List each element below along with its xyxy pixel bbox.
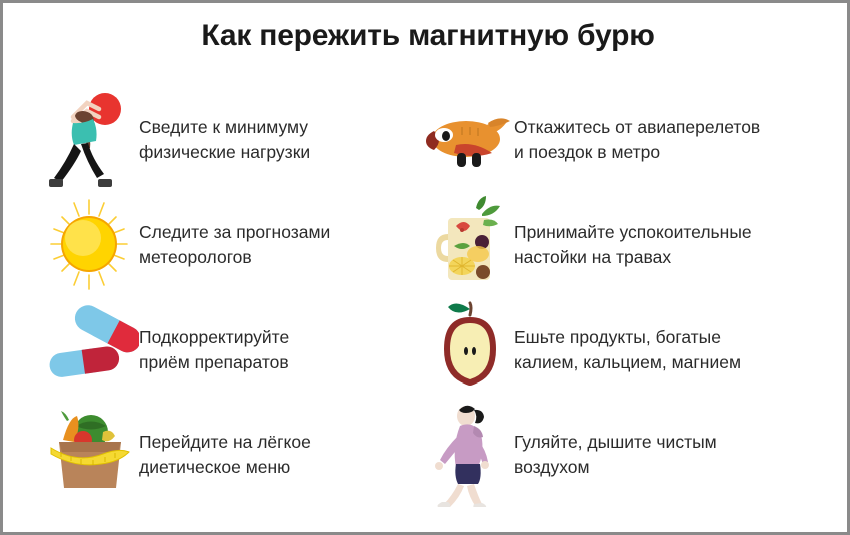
tip-line-1: Перейдите на лёгкое [139,432,311,452]
tip-line-1: Откажитесь от авиаперелетов [514,117,760,137]
tip-item: Откажитесь от авиаперелетов и поездок в … [426,87,816,192]
tip-line-2: и поездок в метро [514,140,760,165]
sun-icon [43,192,139,297]
tip-text: Перейдите на лёгкое диетическое меню [139,430,311,480]
walking-woman-icon [426,402,514,507]
tip-line-1: Следите за прогнозами [139,222,330,242]
herbal-tea-mug-icon [426,192,514,297]
tip-line-1: Гуляйте, дышите чистым [514,432,717,452]
tip-item: Следите за прогнозами метеорологов [43,192,433,297]
tip-line-2: диетическое меню [139,455,311,480]
tip-item: Ешьте продукты, богатые калием, кальцием… [426,297,816,402]
tip-line-1: Ешьте продукты, богатые [514,327,721,347]
tip-text: Сведите к минимуму физические нагрузки [139,115,310,165]
tip-text: Принимайте успокоительные настойки на тр… [514,220,752,270]
tip-item: Гуляйте, дышите чистым воздухом [426,402,816,507]
tip-item: Сведите к минимуму физические нагрузки [43,87,433,192]
left-column: Сведите к минимуму физические нагрузки [43,87,433,507]
tip-item: Подкорректируйте приём препаратов [43,297,433,402]
tip-line-2: калием, кальцием, магнием [514,350,741,375]
airplane-icon [426,87,514,192]
tip-text: Гуляйте, дышите чистым воздухом [514,430,717,480]
tip-line-1: Подкорректируйте [139,327,289,347]
exercise-woman-ball-icon [43,87,139,192]
tip-text: Следите за прогнозами метеорологов [139,220,330,270]
tip-text: Подкорректируйте приём препаратов [139,325,289,375]
tip-line-2: настойки на травах [514,245,752,270]
pills-capsules-icon [43,297,139,402]
tip-line-2: физические нагрузки [139,140,310,165]
tip-line-1: Принимайте успокоительные [514,222,752,242]
apple-halved-icon [426,297,514,402]
tip-text: Откажитесь от авиаперелетов и поездок в … [514,115,760,165]
tip-line-2: метеорологов [139,245,330,270]
tip-line-1: Сведите к минимуму [139,117,308,137]
page-title: Как пережить магнитную бурю [3,19,850,53]
tip-text: Ешьте продукты, богатые калием, кальцием… [514,325,741,375]
tip-item: Принимайте успокоительные настойки на тр… [426,192,816,297]
grocery-bag-measuring-tape-icon [43,402,139,507]
right-column: Откажитесь от авиаперелетов и поездок в … [426,87,816,507]
tip-item: Перейдите на лёгкое диетическое меню [43,402,433,507]
infographic-poster: Как пережить магнитную бурю [0,0,850,535]
tip-line-2: приём препаратов [139,350,289,375]
tip-line-2: воздухом [514,455,717,480]
